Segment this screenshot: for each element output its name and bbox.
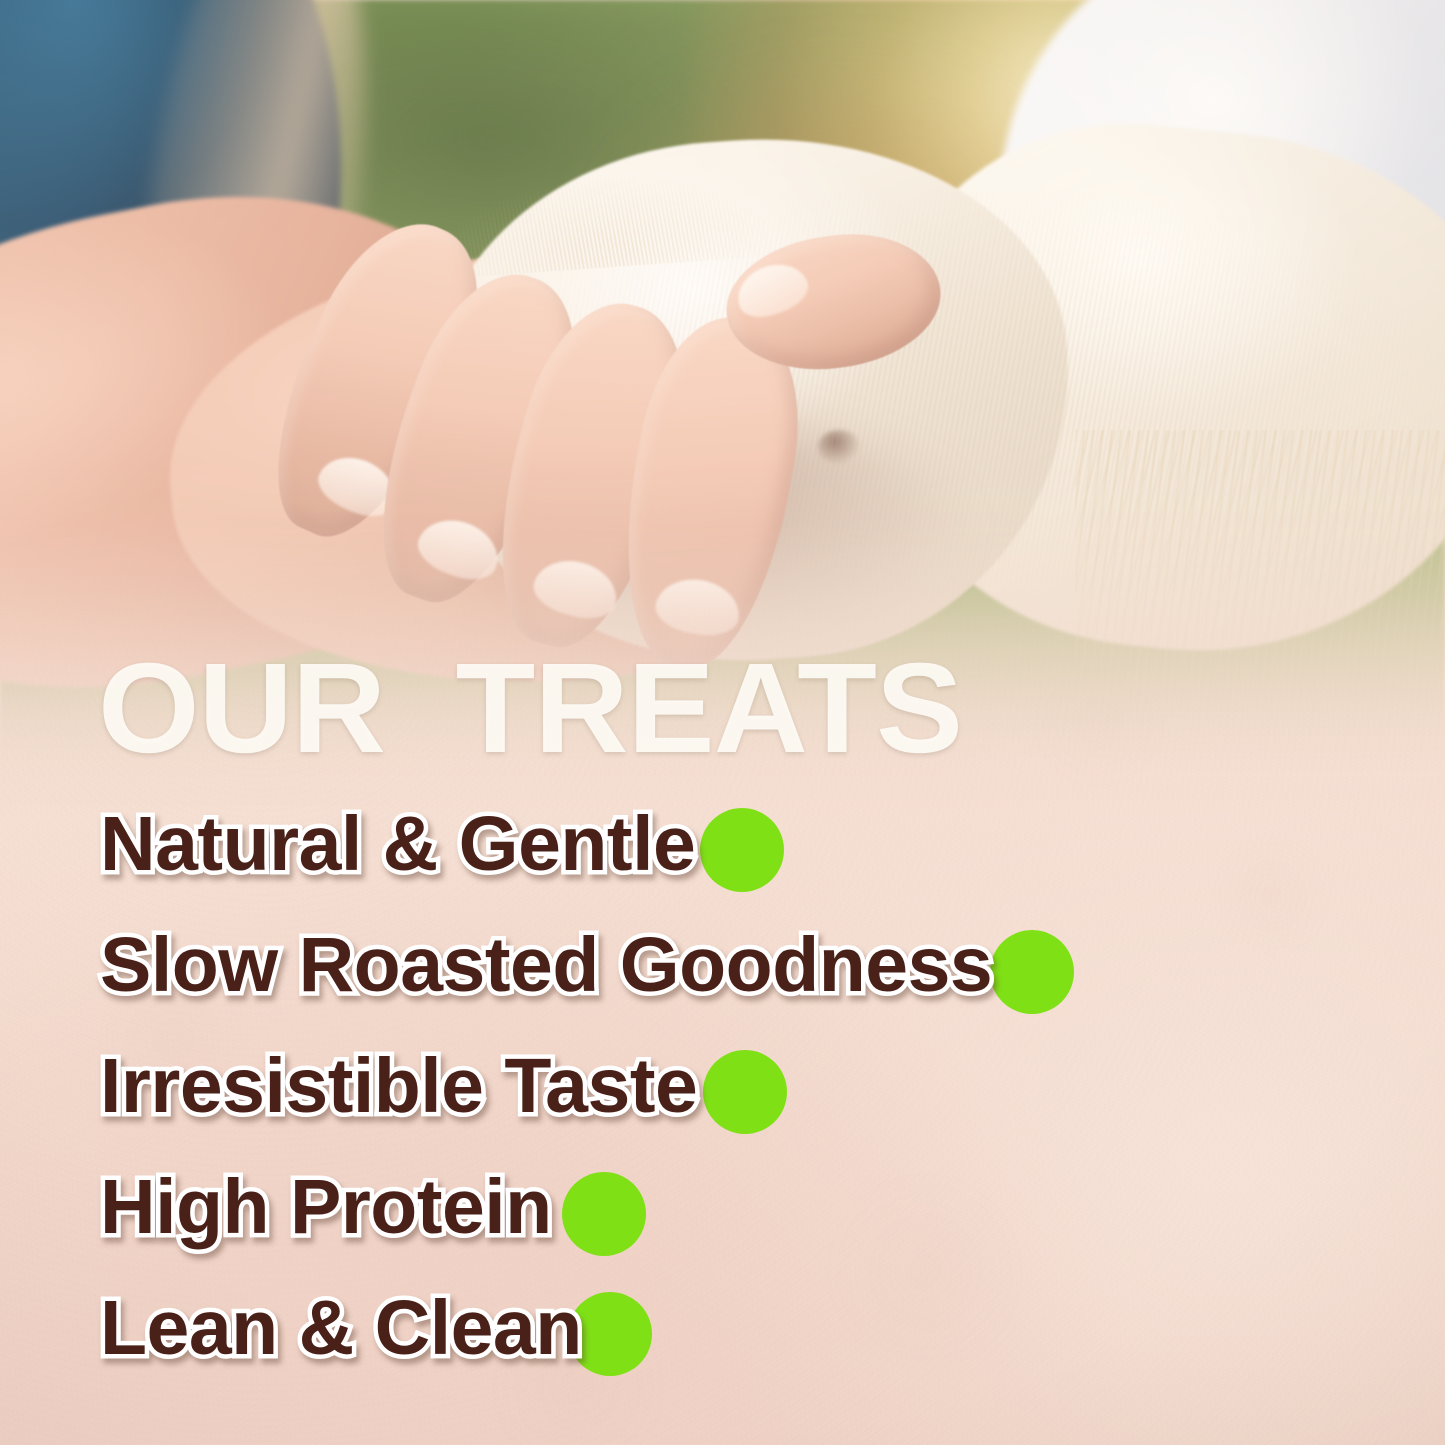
bullet-dot-icon [703,1050,787,1134]
bullet-dot-icon [990,930,1074,1014]
bullet-dot-icon [562,1172,646,1256]
feature-label: Slow Roasted Goodness [100,927,992,1004]
poster-root: OUR TREATS Natural & Gentle Slow Roasted… [0,0,1445,1445]
page-title: OUR TREATS [98,645,962,773]
list-item: Lean & Clean [0,1284,1445,1405]
feature-label: Natural & Gentle [100,806,695,883]
list-item: Slow Roasted Goodness [0,921,1445,1042]
list-item: Natural & Gentle [0,800,1445,921]
feature-list: Natural & Gentle Slow Roasted Goodness I… [0,800,1445,1405]
feature-label: High Protein [100,1169,552,1246]
feature-label: Lean & Clean [100,1290,582,1367]
list-item: High Protein [0,1163,1445,1284]
feature-label: Irresistible Taste [100,1048,697,1125]
list-item: Irresistible Taste [0,1042,1445,1163]
bullet-dot-icon [700,808,784,892]
